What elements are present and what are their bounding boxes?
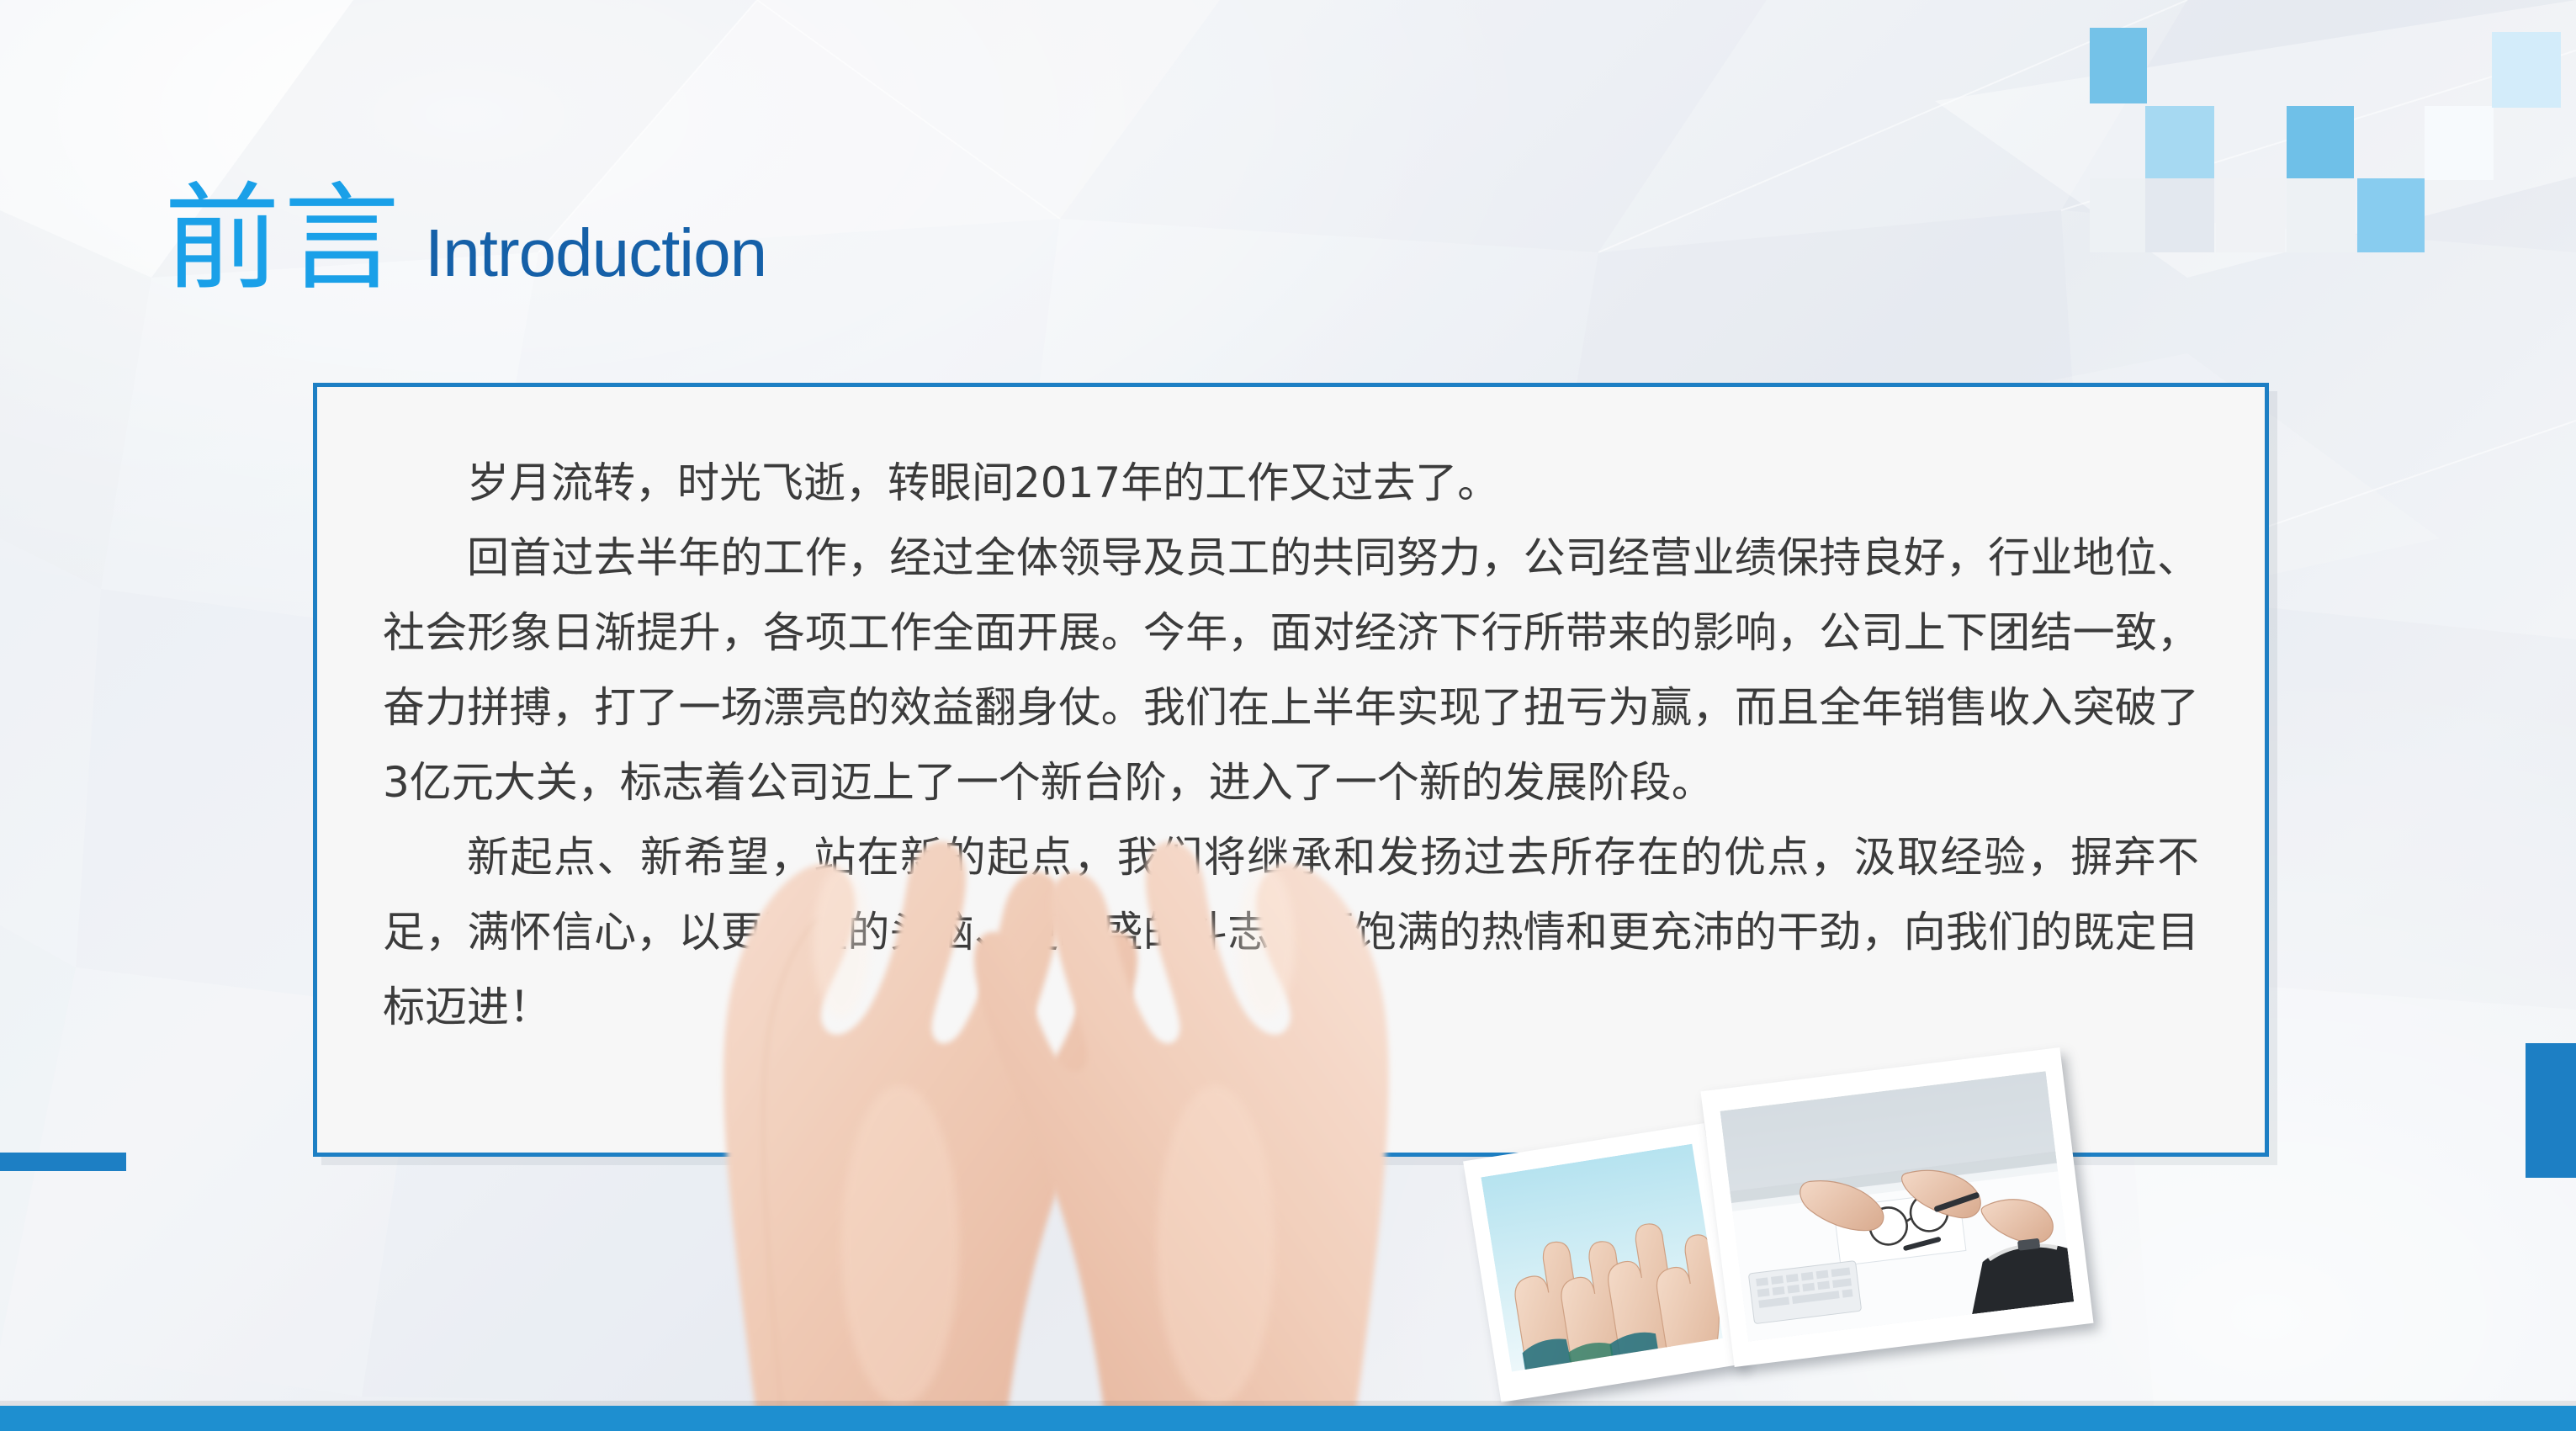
page-title-english: Introduction (425, 220, 766, 297)
decorative-square-9 (2425, 106, 2494, 180)
slide-canvas: 前言 Introduction 岁月流转，时光飞逝，转眼间2017年的工作又过去… (0, 0, 2576, 1431)
decorative-square-2 (2145, 106, 2214, 178)
decorative-square-6 (2287, 106, 2354, 178)
hands-framing-gesture-overlay (505, 505, 1556, 1422)
decorative-square-1 (2090, 28, 2147, 103)
decorative-square-8 (2357, 178, 2425, 252)
photo-meeting-handshake[interactable] (1700, 1047, 2093, 1367)
decorative-square-5 (2216, 178, 2285, 252)
decorative-square-7 (2287, 178, 2356, 252)
photo-thumbnail-group (1481, 1068, 2070, 1405)
page-title: 前言 Introduction (164, 181, 766, 297)
right-accent-bar (2526, 1043, 2576, 1178)
decorative-square-4 (2145, 178, 2214, 252)
page-title-chinese: 前言 (164, 181, 403, 297)
decorative-square-3 (2090, 178, 2145, 252)
decorative-square-grid (2071, 0, 2576, 236)
decorative-square-10 (2492, 32, 2561, 108)
bottom-bar (0, 1406, 2576, 1431)
left-accent-bar (0, 1153, 126, 1171)
photo-thumbs-up[interactable] (1463, 1123, 1742, 1402)
